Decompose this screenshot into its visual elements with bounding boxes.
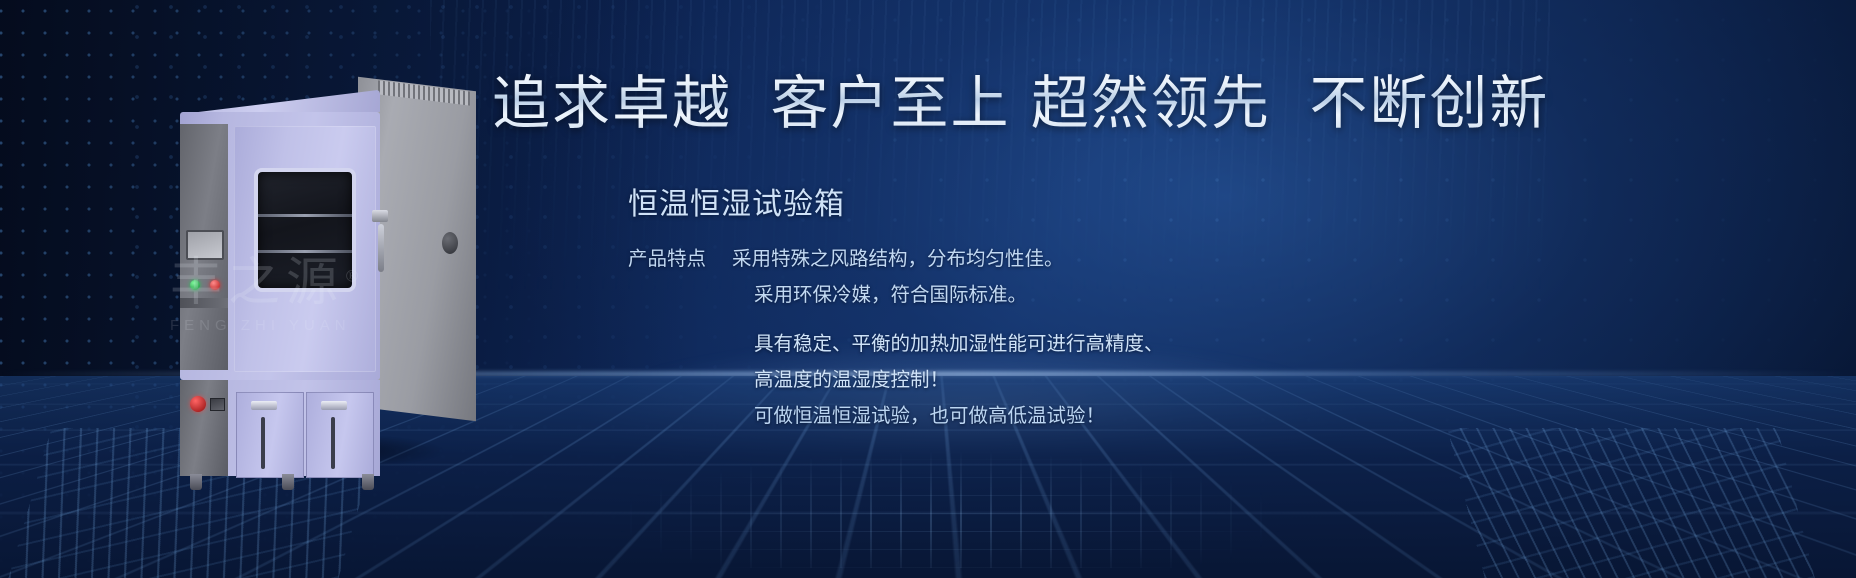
headline-part-3: 超然领先 bbox=[1031, 69, 1271, 137]
banner-headline: 追求卓越 客户至上 超然领先 不断创新 bbox=[492, 56, 1549, 140]
circuit-texture-center bbox=[600, 448, 1300, 568]
feature-row-5: 可做恒温恒湿试验，也可做高低温试验！ bbox=[628, 398, 1164, 434]
controller-display-screen bbox=[186, 230, 224, 260]
base-door-slot bbox=[331, 417, 335, 469]
product-image-test-chamber bbox=[150, 62, 510, 482]
feature-row-1: 产品特点采用特殊之风路结构，分布均匀性佳。 bbox=[628, 241, 1164, 277]
headline-part-2: 客户至上 bbox=[770, 69, 1010, 137]
circuit-texture-right bbox=[1447, 428, 1814, 578]
base-door-grip-icon bbox=[251, 401, 277, 410]
feature-spacer bbox=[628, 313, 1164, 326]
start-button-icon bbox=[190, 280, 200, 290]
feature-text-2: 采用环保冷媒，符合国际标准。 bbox=[754, 284, 1027, 306]
control-panel-strip bbox=[180, 298, 228, 308]
features-label: 产品特点 bbox=[628, 241, 706, 277]
door-viewing-window bbox=[254, 168, 356, 292]
headline-part-4: 不断创新 bbox=[1309, 69, 1549, 137]
caster-foot-icon bbox=[282, 474, 294, 490]
door-hinge-icon bbox=[372, 210, 388, 222]
headline-part-1: 追求卓越 bbox=[492, 69, 732, 137]
chamber-shelf bbox=[258, 250, 352, 253]
emergency-stop-icon bbox=[190, 396, 206, 412]
feature-row-4: 高温度的温湿度控制！ bbox=[628, 362, 1164, 398]
product-title: 恒温恒湿试验箱 bbox=[628, 179, 845, 223]
feature-text-5: 可做恒温恒湿试验，也可做高低温试验！ bbox=[754, 405, 1105, 427]
rear-knob-icon bbox=[442, 232, 458, 254]
feature-text-4: 高温度的温湿度控制！ bbox=[754, 369, 949, 391]
feature-row-2: 采用环保冷媒，符合国际标准。 bbox=[628, 277, 1164, 313]
base-door-slot bbox=[261, 417, 265, 469]
base-door-left bbox=[236, 392, 304, 478]
caster-foot-icon bbox=[362, 474, 374, 490]
promo-banner: 丰之源® FENG ZHI YUAN 追求卓越 客户至上 超然领先 不断创新 恒… bbox=[0, 0, 1856, 578]
meter-display-icon bbox=[210, 398, 225, 411]
base-door-right bbox=[306, 392, 374, 478]
feature-list: 产品特点采用特殊之风路结构，分布均匀性佳。 采用环保冷媒，符合国际标准。 具有稳… bbox=[628, 241, 1164, 434]
base-control-panel bbox=[180, 380, 228, 476]
feature-text-3: 具有稳定、平衡的加热加湿性能可进行高精度、 bbox=[754, 333, 1164, 355]
stop-button-icon bbox=[210, 280, 220, 290]
chamber-shelf bbox=[258, 214, 352, 217]
feature-text-1: 采用特殊之风路结构，分布均匀性佳。 bbox=[732, 248, 1064, 270]
door-handle-icon bbox=[378, 224, 384, 272]
caster-foot-icon bbox=[190, 474, 202, 490]
base-door-grip-icon bbox=[321, 401, 347, 410]
feature-row-3: 具有稳定、平衡的加热加湿性能可进行高精度、 bbox=[628, 326, 1164, 362]
